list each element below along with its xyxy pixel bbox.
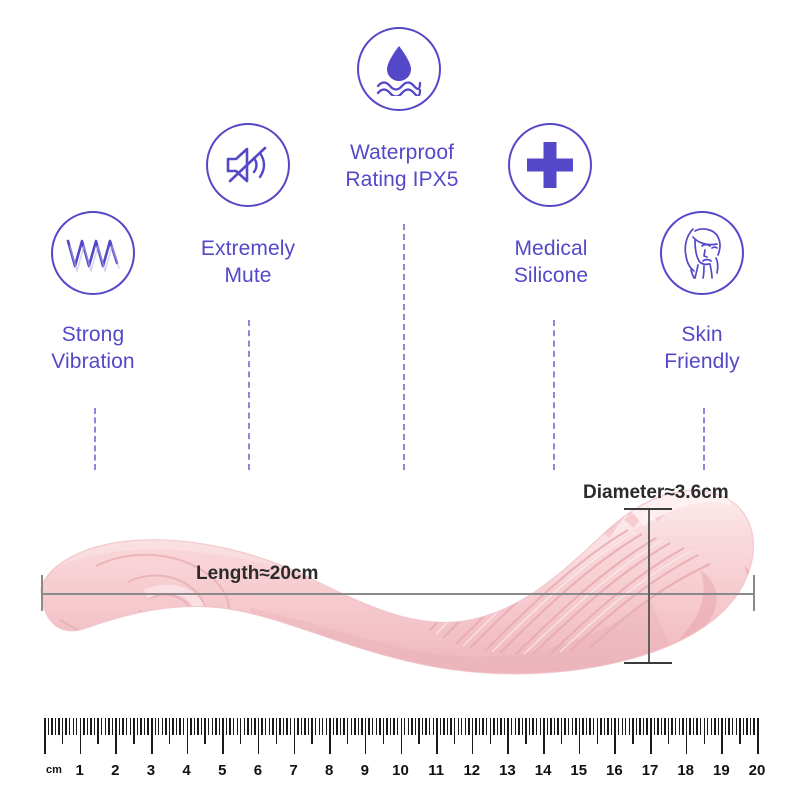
ruler-minor-tick xyxy=(739,718,740,744)
ruler: cm1234567891011121314151617181920 xyxy=(0,718,800,790)
ruler-minor-tick xyxy=(718,718,719,735)
ruler-minor-tick xyxy=(368,718,369,735)
ruler-minor-tick xyxy=(454,718,455,744)
ruler-minor-tick xyxy=(415,718,416,735)
ruler-minor-tick xyxy=(689,718,690,735)
ruler-number: 4 xyxy=(182,762,190,779)
ruler-major-tick xyxy=(686,718,688,754)
ruler-minor-tick xyxy=(376,718,377,735)
ruler-minor-tick xyxy=(525,718,526,744)
ruler-minor-tick xyxy=(122,718,123,735)
ruler-major-tick xyxy=(721,718,723,754)
ruler-minor-tick xyxy=(372,718,373,735)
ruler-minor-tick xyxy=(597,718,598,744)
diameter-cap-top xyxy=(624,508,672,510)
ruler-minor-tick xyxy=(308,718,309,735)
ruler-number: 16 xyxy=(606,762,623,779)
ruler-minor-tick xyxy=(76,718,77,735)
ruler-minor-tick xyxy=(190,718,191,735)
ruler-minor-tick xyxy=(500,718,501,735)
ruler-minor-tick xyxy=(479,718,480,735)
ruler-minor-tick xyxy=(636,718,637,735)
ruler-major-tick xyxy=(579,718,581,754)
ruler-minor-tick xyxy=(443,718,444,735)
ruler-minor-tick xyxy=(732,718,733,735)
ruler-minor-tick xyxy=(179,718,180,735)
muted-speaker-icon xyxy=(223,142,273,188)
ruler-minor-tick xyxy=(244,718,245,735)
ruler-major-tick xyxy=(44,718,46,754)
ruler-minor-tick xyxy=(158,718,159,735)
ruler-minor-tick xyxy=(422,718,423,735)
ruler-minor-tick xyxy=(611,718,612,735)
ruler-minor-tick xyxy=(379,718,380,735)
medical-cross-icon xyxy=(524,139,576,191)
ruler-minor-tick xyxy=(497,718,498,735)
ruler-number: 10 xyxy=(392,762,409,779)
ruler-minor-tick xyxy=(622,718,623,735)
ruler-minor-tick xyxy=(87,718,88,735)
ruler-minor-tick xyxy=(490,718,491,744)
ruler-minor-tick xyxy=(482,718,483,735)
ruler-minor-tick xyxy=(450,718,451,735)
ruler-minor-tick xyxy=(194,718,195,735)
ruler-number: 2 xyxy=(111,762,119,779)
ruler-minor-tick xyxy=(279,718,280,735)
ruler-minor-tick xyxy=(69,718,70,735)
infographic-root: Strong Vibration Extremely Mute Waterpro… xyxy=(0,0,800,800)
ruler-minor-tick xyxy=(269,718,270,735)
ruler-minor-tick xyxy=(155,718,156,735)
ruler-minor-tick xyxy=(679,718,680,735)
ruler-minor-tick xyxy=(404,718,405,735)
ruler-minor-tick xyxy=(711,718,712,735)
ruler-minor-tick xyxy=(108,718,109,735)
ruler-minor-tick xyxy=(554,718,555,735)
ruler-minor-tick xyxy=(589,718,590,735)
ruler-minor-tick xyxy=(465,718,466,735)
ruler-minor-tick xyxy=(319,718,320,735)
ruler-minor-tick xyxy=(147,718,148,735)
ruler-minor-tick xyxy=(212,718,213,735)
ruler-minor-tick xyxy=(140,718,141,735)
badge-waterproof[interactable] xyxy=(357,27,441,111)
ruler-minor-tick xyxy=(304,718,305,735)
ruler-minor-tick xyxy=(301,718,302,735)
ruler-minor-tick xyxy=(55,718,56,735)
ruler-minor-tick xyxy=(172,718,173,735)
ruler-major-tick xyxy=(222,718,224,754)
ruler-minor-tick xyxy=(105,718,106,735)
label-extremely-mute: Extremely Mute xyxy=(173,236,323,290)
ruler-minor-tick xyxy=(408,718,409,735)
ruler-minor-tick xyxy=(632,718,633,744)
ruler-number: 12 xyxy=(463,762,480,779)
ruler-minor-tick xyxy=(664,718,665,735)
ruler-major-tick xyxy=(329,718,331,754)
ruler-minor-tick xyxy=(165,718,166,735)
length-cap-left xyxy=(41,575,43,611)
ruler-minor-tick xyxy=(176,718,177,735)
ruler-minor-tick xyxy=(397,718,398,735)
ruler-minor-tick xyxy=(358,718,359,735)
ruler-number: 11 xyxy=(428,762,444,779)
ruler-minor-tick xyxy=(629,718,630,735)
ruler-minor-tick xyxy=(347,718,348,744)
ruler-minor-tick xyxy=(58,718,59,735)
ruler-number: 5 xyxy=(218,762,226,779)
ruler-unit-label: cm xyxy=(46,764,62,776)
ruler-major-tick xyxy=(115,718,117,754)
connector-medical-silicone xyxy=(553,320,555,470)
ruler-minor-tick xyxy=(254,718,255,735)
ruler-minor-tick xyxy=(540,718,541,735)
badge-skin-friendly[interactable] xyxy=(660,211,744,295)
ruler-minor-tick xyxy=(447,718,448,735)
ruler-minor-tick xyxy=(322,718,323,735)
ruler-minor-tick xyxy=(433,718,434,735)
ruler-minor-tick xyxy=(65,718,66,735)
badge-strong-vibration[interactable] xyxy=(51,211,135,295)
ruler-minor-tick xyxy=(226,718,227,735)
ruler-minor-tick xyxy=(215,718,216,735)
ruler-minor-tick xyxy=(557,718,558,735)
ruler-minor-tick xyxy=(536,718,537,735)
ruler-minor-tick xyxy=(144,718,145,735)
ruler-minor-tick xyxy=(276,718,277,744)
ruler-number: 6 xyxy=(254,762,262,779)
ruler-minor-tick xyxy=(383,718,384,744)
ruler-major-tick xyxy=(436,718,438,754)
ruler-minor-tick xyxy=(130,718,131,735)
ruler-minor-tick xyxy=(119,718,120,735)
ruler-minor-tick xyxy=(361,718,362,735)
ruler-minor-tick xyxy=(315,718,316,735)
ruler-minor-tick xyxy=(233,718,234,735)
ruler-number: 17 xyxy=(642,762,659,779)
ruler-minor-tick xyxy=(707,718,708,735)
ruler-major-tick xyxy=(294,718,296,754)
ruler-minor-tick xyxy=(461,718,462,735)
ruler-minor-tick xyxy=(201,718,202,735)
ruler-minor-tick xyxy=(728,718,729,735)
ruler-minor-tick xyxy=(743,718,744,735)
ruler-minor-tick xyxy=(604,718,605,735)
ruler-minor-tick xyxy=(522,718,523,735)
ruler-minor-tick xyxy=(137,718,138,735)
diameter-label: Diameter≈3.6cm xyxy=(583,482,729,504)
ruler-number: 3 xyxy=(147,762,155,779)
ruler-minor-tick xyxy=(311,718,312,744)
ruler-minor-tick xyxy=(204,718,205,744)
ruler-minor-tick xyxy=(582,718,583,735)
ruler-minor-tick xyxy=(247,718,248,735)
ruler-minor-tick xyxy=(283,718,284,735)
length-dimension-line xyxy=(41,593,753,595)
ruler-minor-tick xyxy=(518,718,519,735)
ruler-minor-tick xyxy=(511,718,512,735)
ruler-number: 19 xyxy=(713,762,730,779)
ruler-minor-tick xyxy=(251,718,252,735)
ruler-minor-tick xyxy=(493,718,494,735)
ruler-minor-tick xyxy=(48,718,49,735)
ruler-major-tick xyxy=(757,718,759,754)
ruler-minor-tick xyxy=(112,718,113,735)
ruler-number: 13 xyxy=(499,762,516,779)
ruler-minor-tick xyxy=(696,718,697,735)
ruler-minor-tick xyxy=(393,718,394,735)
ruler-minor-tick xyxy=(532,718,533,735)
ruler-major-tick xyxy=(650,718,652,754)
ruler-minor-tick xyxy=(675,718,676,735)
connector-extremely-mute xyxy=(248,320,250,470)
ruler-minor-tick xyxy=(575,718,576,735)
length-label: Length≈20cm xyxy=(196,563,318,585)
ruler-minor-tick xyxy=(265,718,266,735)
ruler-minor-tick xyxy=(693,718,694,735)
ruler-major-tick xyxy=(187,718,189,754)
ruler-minor-tick xyxy=(750,718,751,735)
ruler-minor-tick xyxy=(133,718,134,744)
ruler-minor-tick xyxy=(73,718,74,735)
ruler-minor-tick xyxy=(237,718,238,735)
ruler-number: 9 xyxy=(361,762,369,779)
ruler-minor-tick xyxy=(94,718,95,735)
connector-waterproof xyxy=(403,224,405,470)
ruler-minor-tick xyxy=(515,718,516,735)
ruler-minor-tick xyxy=(586,718,587,735)
ruler-minor-tick xyxy=(547,718,548,735)
ruler-minor-tick xyxy=(126,718,127,735)
ruler-minor-tick xyxy=(286,718,287,735)
ruler-minor-tick xyxy=(714,718,715,735)
ruler-minor-tick xyxy=(639,718,640,735)
ruler-minor-tick xyxy=(643,718,644,735)
ruler-number: 20 xyxy=(749,762,766,779)
ruler-major-tick xyxy=(614,718,616,754)
ruler-major-tick xyxy=(507,718,509,754)
ruler-minor-tick xyxy=(240,718,241,744)
ruler-minor-tick xyxy=(219,718,220,735)
ruler-number: 15 xyxy=(570,762,587,779)
connector-strong-vibration xyxy=(94,408,96,470)
label-strong-vibration: Strong Vibration xyxy=(18,322,168,376)
ruler-minor-tick xyxy=(390,718,391,735)
badge-medical-silicone[interactable] xyxy=(508,123,592,207)
ruler-minor-tick xyxy=(468,718,469,735)
ruler-minor-tick xyxy=(169,718,170,744)
ruler-minor-tick xyxy=(333,718,334,735)
ruler-minor-tick xyxy=(343,718,344,735)
ruler-minor-tick xyxy=(753,718,754,735)
ruler-minor-tick xyxy=(418,718,419,744)
ruler-minor-tick xyxy=(561,718,562,744)
ruler-minor-tick xyxy=(261,718,262,735)
ruler-minor-tick xyxy=(354,718,355,735)
ruler-major-tick xyxy=(80,718,82,754)
ruler-minor-tick xyxy=(572,718,573,735)
ruler-minor-tick xyxy=(336,718,337,735)
ruler-minor-tick xyxy=(340,718,341,735)
ruler-minor-tick xyxy=(725,718,726,735)
ruler-minor-tick xyxy=(229,718,230,735)
ruler-number: 7 xyxy=(289,762,297,779)
ruler-major-tick xyxy=(472,718,474,754)
ruler-major-tick xyxy=(365,718,367,754)
ruler-minor-tick xyxy=(458,718,459,735)
ruler-minor-tick xyxy=(51,718,52,735)
ruler-minor-tick xyxy=(290,718,291,735)
ruler-number: 18 xyxy=(677,762,694,779)
ruler-minor-tick xyxy=(746,718,747,735)
ruler-minor-tick xyxy=(62,718,63,744)
ruler-minor-tick xyxy=(564,718,565,735)
diameter-dimension-line xyxy=(648,508,650,662)
badge-extremely-mute[interactable] xyxy=(206,123,290,207)
connector-skin-friendly xyxy=(703,408,705,470)
ruler-minor-tick xyxy=(668,718,669,744)
ruler-minor-tick xyxy=(386,718,387,735)
ruler-minor-tick xyxy=(411,718,412,735)
ruler-minor-tick xyxy=(429,718,430,735)
ruler-minor-tick xyxy=(625,718,626,735)
ruler-minor-tick xyxy=(101,718,102,735)
ruler-minor-tick xyxy=(475,718,476,735)
ruler-minor-tick xyxy=(440,718,441,735)
ruler-minor-tick xyxy=(183,718,184,735)
ruler-minor-tick xyxy=(682,718,683,735)
ruler-minor-tick xyxy=(197,718,198,735)
water-drop-waves-icon xyxy=(373,42,425,96)
ruler-minor-tick xyxy=(97,718,98,744)
ruler-minor-tick xyxy=(607,718,608,735)
ruler-minor-tick xyxy=(550,718,551,735)
ruler-major-tick xyxy=(258,718,260,754)
length-cap-right xyxy=(753,575,755,611)
ruler-minor-tick xyxy=(529,718,530,735)
ruler-number: 8 xyxy=(325,762,333,779)
ruler-number: 14 xyxy=(535,762,552,779)
ruler-minor-tick xyxy=(646,718,647,735)
ruler-minor-tick xyxy=(486,718,487,735)
diameter-cap-bottom xyxy=(624,662,672,664)
ruler-minor-tick xyxy=(600,718,601,735)
ruler-minor-tick xyxy=(568,718,569,735)
ruler-minor-tick xyxy=(326,718,327,735)
ruler-minor-tick xyxy=(162,718,163,735)
ruler-minor-tick xyxy=(504,718,505,735)
ruler-minor-tick xyxy=(425,718,426,735)
label-medical-silicone: Medical Silicone xyxy=(476,236,626,290)
ruler-minor-tick xyxy=(351,718,352,735)
ruler-number: 1 xyxy=(75,762,83,779)
ruler-minor-tick xyxy=(297,718,298,735)
ruler-minor-tick xyxy=(671,718,672,735)
ruler-minor-tick xyxy=(272,718,273,735)
ruler-minor-tick xyxy=(704,718,705,744)
vibration-wave-icon xyxy=(65,233,121,273)
ruler-minor-tick xyxy=(661,718,662,735)
ruler-minor-tick xyxy=(208,718,209,735)
woman-face-icon xyxy=(673,223,731,283)
label-waterproof: Waterproof Rating IPX5 xyxy=(327,140,477,194)
ruler-minor-tick xyxy=(83,718,84,735)
ruler-minor-tick xyxy=(700,718,701,735)
ruler-minor-tick xyxy=(593,718,594,735)
ruler-minor-tick xyxy=(657,718,658,735)
ruler-major-tick xyxy=(151,718,153,754)
ruler-major-tick xyxy=(543,718,545,754)
label-skin-friendly: Skin Friendly xyxy=(627,322,777,376)
ruler-minor-tick xyxy=(618,718,619,735)
ruler-minor-tick xyxy=(654,718,655,735)
ruler-minor-tick xyxy=(90,718,91,735)
ruler-minor-tick xyxy=(736,718,737,735)
ruler-major-tick xyxy=(401,718,403,754)
